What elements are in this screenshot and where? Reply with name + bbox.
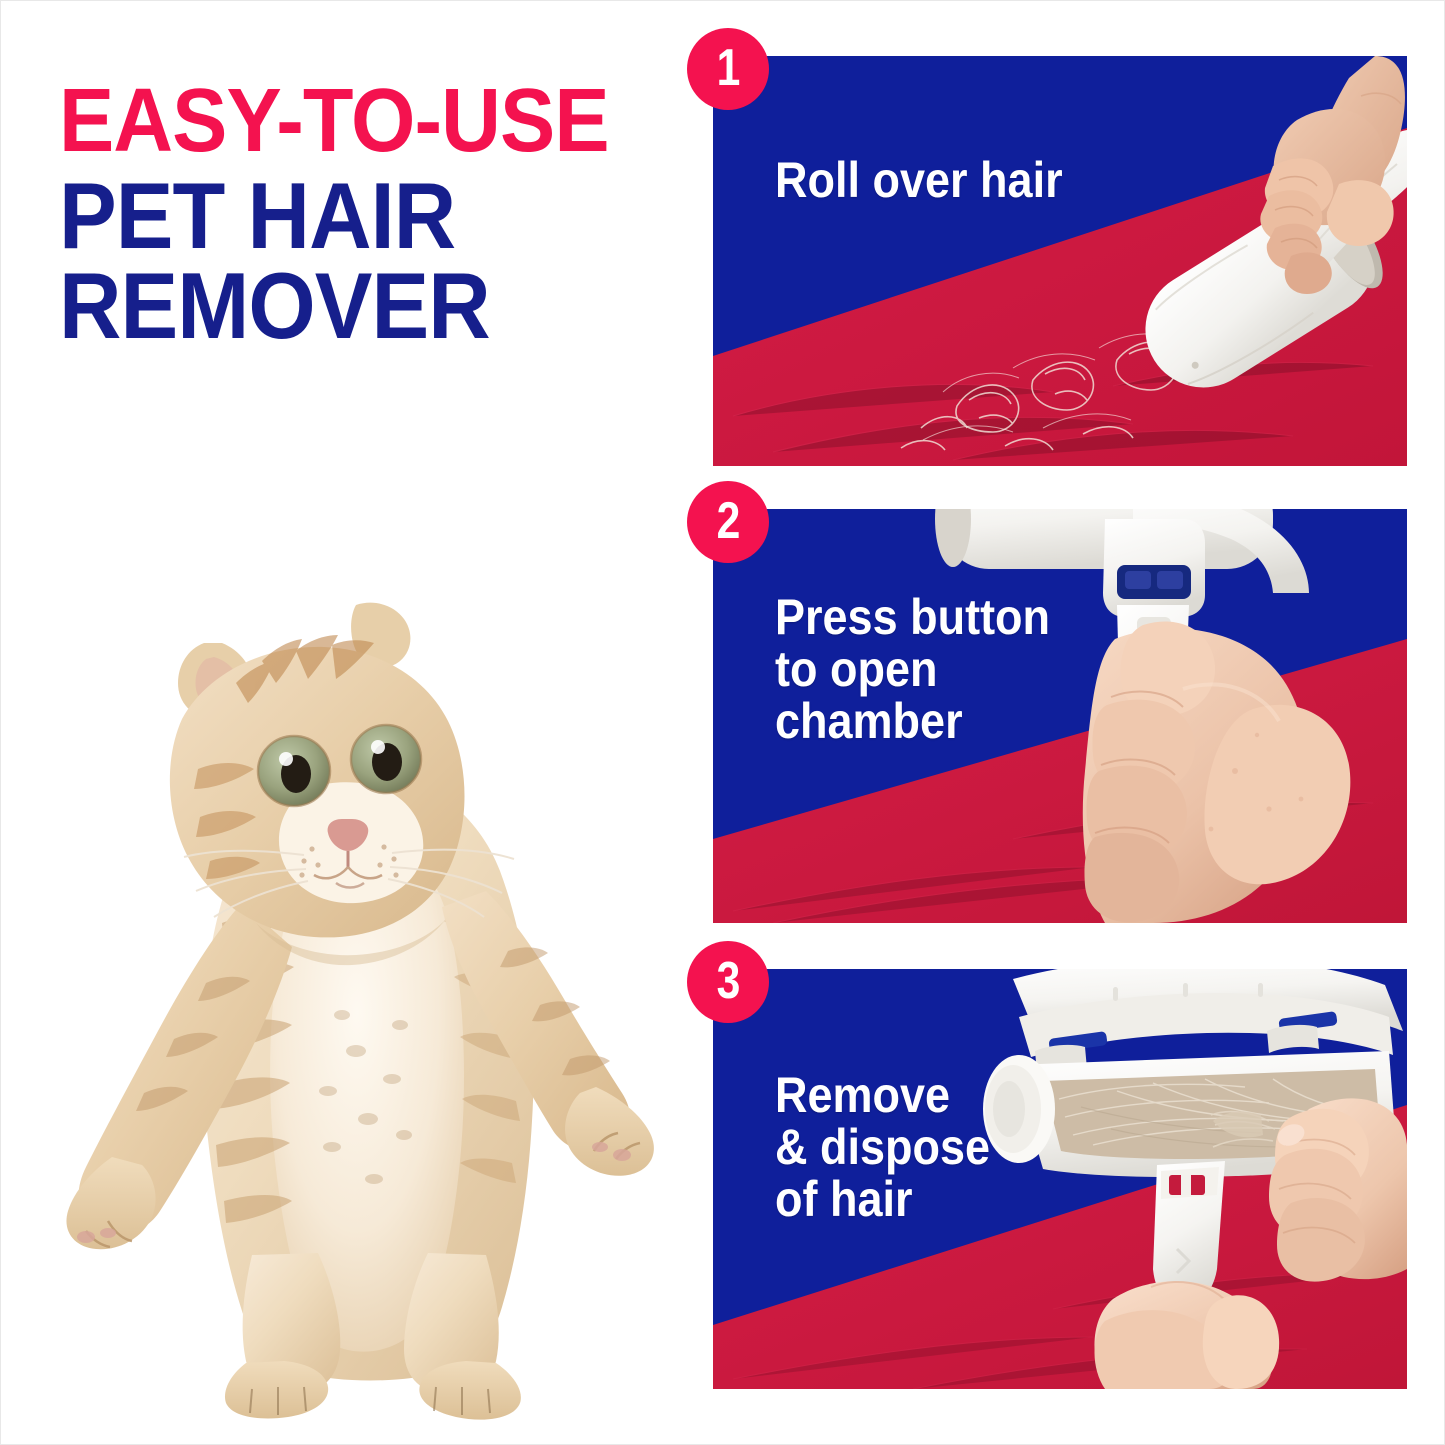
step-2-number: 2 <box>716 495 740 547</box>
step-2-caption-line-2: to open <box>775 643 1050 695</box>
infographic-canvas: EASY-TO-USE PET HAIR REMOVER <box>0 0 1445 1445</box>
step-1-number: 1 <box>716 42 740 94</box>
step-3-caption-line-2: & dispose <box>775 1121 990 1173</box>
step-1-number-badge: 1 <box>687 28 769 110</box>
step-2-caption-line-3: chamber <box>775 695 1050 747</box>
step-1-image <box>713 56 1407 466</box>
step-1-caption: Roll over hair <box>775 154 1063 206</box>
headline-line-2: PET HAIR <box>59 172 611 260</box>
step-3-number: 3 <box>716 955 740 1007</box>
step-3-caption: Remove & dispose of hair <box>775 1069 990 1225</box>
hero-cat-photo <box>56 531 676 1431</box>
step-3-number-badge: 3 <box>687 941 769 1023</box>
step-panel-3: 3 Remove & dispose of hair <box>713 969 1407 1389</box>
step-3-caption-line-1: Remove <box>775 1069 990 1121</box>
step-panel-2: 2 Press button to open chamber <box>713 509 1407 923</box>
step-2-caption: Press button to open chamber <box>775 591 1050 747</box>
headline-block: EASY-TO-USE PET HAIR REMOVER <box>59 79 659 350</box>
step-2-number-badge: 2 <box>687 481 769 563</box>
step-1-caption-line-1: Roll over hair <box>775 154 1063 206</box>
headline-line-3: REMOVER <box>59 262 611 350</box>
headline-line-1: EASY-TO-USE <box>59 79 611 164</box>
step-panel-1: 1 Roll over hair <box>713 56 1407 466</box>
step-3-caption-line-3: of hair <box>775 1173 990 1225</box>
step-2-caption-line-1: Press button <box>775 591 1050 643</box>
